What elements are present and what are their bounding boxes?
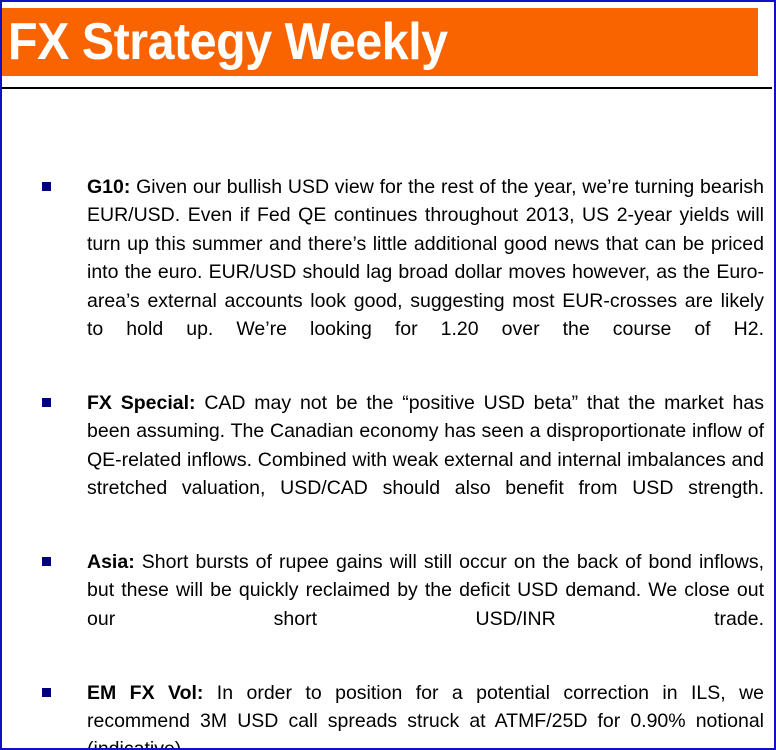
list-item: G10: Given our bullish USD view for the … <box>40 173 764 372</box>
page-title: FX Strategy Weekly <box>8 10 448 74</box>
bullet-body-text: Given our bullish USD view for the rest … <box>87 176 764 340</box>
bullet-paragraph: Asia: Short bursts of rupee gains will s… <box>87 548 764 662</box>
square-bullet-icon <box>42 398 51 407</box>
square-bullet-icon <box>42 688 51 697</box>
list-item: FX Special: CAD may not be the “positive… <box>40 389 764 531</box>
square-bullet-icon <box>42 182 51 191</box>
list-item: EM FX Vol: In order to position for a po… <box>40 679 764 750</box>
summary-bullet-list: G10: Given our bullish USD view for the … <box>40 173 764 750</box>
document-body: G10: Given our bullish USD view for the … <box>2 90 774 748</box>
bullet-lead-label: EM FX Vol: <box>87 682 203 704</box>
bullet-body-text: Short bursts of rupee gains will still o… <box>87 551 764 630</box>
bullet-paragraph: FX Special: CAD may not be the “positive… <box>87 389 764 531</box>
bullet-paragraph: EM FX Vol: In order to position for a po… <box>87 679 764 750</box>
square-bullet-icon <box>42 557 51 566</box>
bullet-lead-label: G10: <box>87 176 130 198</box>
title-banner: FX Strategy Weekly <box>2 8 758 76</box>
document-header: FX Strategy Weekly <box>2 2 774 90</box>
bullet-lead-label: FX Special: <box>87 392 196 414</box>
header-divider <box>2 87 772 89</box>
list-item: Asia: Short bursts of rupee gains will s… <box>40 548 764 662</box>
bullet-paragraph: G10: Given our bullish USD view for the … <box>87 173 764 372</box>
document-page: FX Strategy Weekly G10: Given our bullis… <box>0 0 776 750</box>
bullet-lead-label: Asia: <box>87 551 135 573</box>
